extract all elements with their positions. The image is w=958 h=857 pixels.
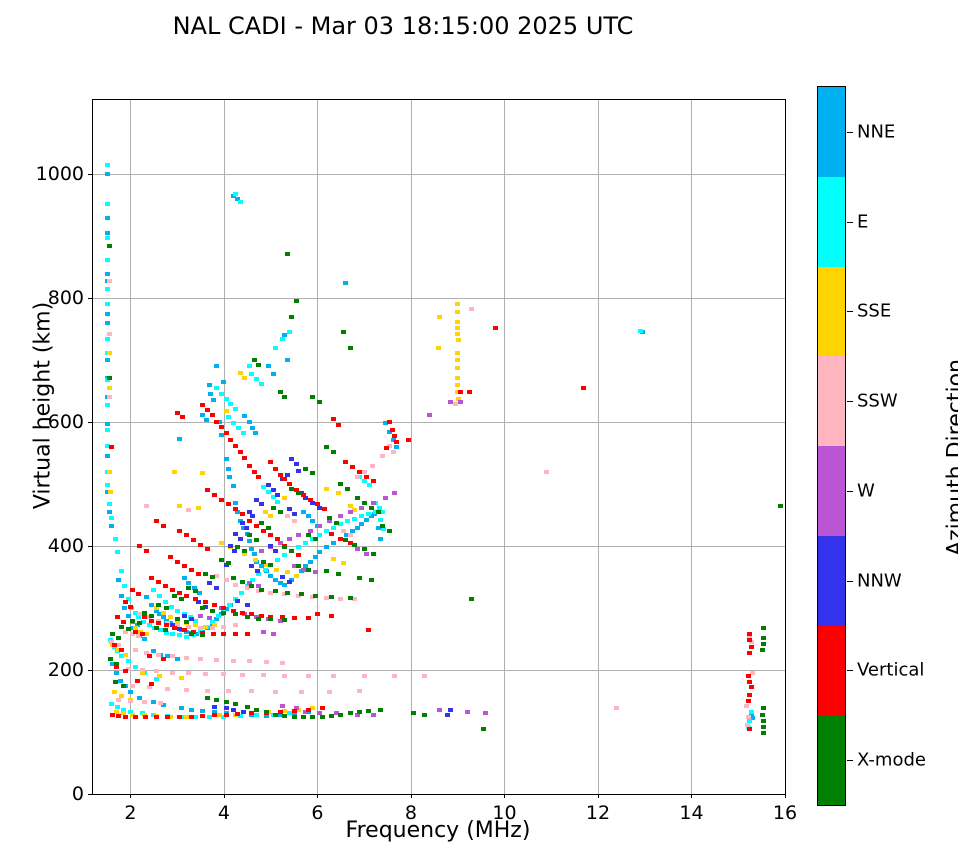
data-point-vertical bbox=[320, 706, 325, 710]
data-point-vertical bbox=[198, 543, 203, 547]
data-point-vertical bbox=[273, 467, 278, 471]
data-point-x-mode bbox=[210, 609, 215, 613]
data-point-x-mode bbox=[411, 711, 416, 715]
data-point-nne bbox=[394, 445, 399, 449]
data-point-vertical bbox=[205, 488, 210, 492]
colorbar-band-ssw[interactable] bbox=[818, 356, 845, 446]
data-point-e bbox=[275, 500, 280, 504]
data-point-x-mode bbox=[224, 700, 229, 704]
data-point-vertical bbox=[254, 524, 259, 528]
data-point-x-mode bbox=[184, 620, 189, 624]
data-point-vertical bbox=[175, 411, 180, 415]
x-tick bbox=[130, 794, 131, 798]
data-point-nnw bbox=[273, 549, 278, 553]
data-point-x-mode bbox=[285, 591, 290, 595]
colorbar-tick bbox=[847, 670, 853, 671]
data-point-x-mode bbox=[163, 628, 168, 632]
data-point-x-mode bbox=[320, 715, 325, 719]
data-point-nnw bbox=[182, 614, 187, 618]
data-point-x-mode bbox=[108, 657, 113, 661]
colorbar-band-x-mode[interactable] bbox=[818, 715, 845, 805]
data-point-sse bbox=[203, 625, 208, 629]
data-point-x-mode bbox=[292, 715, 297, 719]
data-point-ssw bbox=[224, 578, 229, 582]
data-point-x-mode bbox=[172, 594, 177, 598]
data-point-sse bbox=[352, 508, 357, 512]
gridline-horizontal bbox=[93, 174, 785, 175]
data-point-vertical bbox=[154, 715, 159, 719]
data-point-x-mode bbox=[369, 506, 374, 510]
data-point-nnw bbox=[212, 705, 217, 709]
data-point-ssw bbox=[392, 674, 397, 678]
data-point-nne bbox=[271, 372, 276, 376]
colorbar-band-e[interactable] bbox=[818, 177, 845, 267]
data-point-sse bbox=[436, 346, 441, 350]
data-point-vertical bbox=[282, 477, 287, 481]
y-tick bbox=[88, 670, 92, 671]
data-point-vertical bbox=[193, 597, 198, 601]
page-title: NAL CADI - Mar 03 18:15:00 2025 UTC bbox=[0, 12, 806, 40]
colorbar-tick bbox=[847, 491, 853, 492]
data-point-x-mode bbox=[329, 714, 334, 718]
data-point-x-mode bbox=[186, 586, 191, 590]
data-point-x-mode bbox=[142, 611, 147, 615]
data-point-sse bbox=[455, 326, 460, 330]
data-point-ssw bbox=[306, 674, 311, 678]
data-point-nnw bbox=[232, 549, 237, 553]
y-tick bbox=[88, 174, 92, 175]
colorbar-band-nne[interactable] bbox=[818, 87, 845, 177]
y-tick-label: 1000 bbox=[36, 163, 84, 185]
data-point-x-mode bbox=[175, 617, 180, 621]
data-point-w bbox=[371, 501, 376, 505]
data-point-vertical bbox=[184, 533, 189, 537]
data-point-ssw bbox=[280, 661, 285, 665]
data-point-vertical bbox=[581, 386, 586, 390]
data-point-x-mode bbox=[761, 636, 766, 640]
gridline-vertical bbox=[598, 100, 599, 794]
data-point-vertical bbox=[240, 512, 245, 516]
data-point-x-mode bbox=[156, 603, 161, 607]
data-point-vertical bbox=[143, 715, 148, 719]
data-point-sse bbox=[107, 386, 112, 390]
data-point-x-mode bbox=[278, 510, 283, 514]
data-point-vertical bbox=[747, 693, 752, 697]
data-point-e bbox=[263, 568, 268, 572]
data-point-w bbox=[371, 713, 376, 717]
data-point-vertical bbox=[301, 493, 306, 497]
data-point-vertical bbox=[140, 632, 145, 636]
data-point-w bbox=[313, 570, 318, 574]
data-point-vertical bbox=[116, 714, 121, 718]
data-point-sse bbox=[123, 653, 128, 657]
data-point-nne bbox=[207, 383, 212, 387]
y-tick bbox=[88, 422, 92, 423]
data-point-w bbox=[458, 400, 463, 404]
ionogram-page: NAL CADI - Mar 03 18:15:00 2025 UTC 2468… bbox=[0, 0, 958, 857]
data-point-nnw bbox=[287, 507, 292, 511]
data-point-vertical bbox=[161, 524, 166, 528]
data-point-e bbox=[303, 541, 308, 545]
data-point-sse bbox=[455, 351, 460, 355]
data-point-vertical bbox=[149, 619, 154, 623]
data-point-x-mode bbox=[219, 558, 224, 562]
data-point-ssw bbox=[107, 332, 112, 336]
gridline-horizontal bbox=[93, 422, 785, 423]
data-point-x-mode bbox=[259, 521, 264, 525]
data-point-e bbox=[109, 702, 114, 706]
data-point-e bbox=[352, 517, 357, 521]
data-point-ssw bbox=[116, 643, 121, 647]
data-point-ssw bbox=[154, 669, 159, 673]
data-point-ssw bbox=[331, 674, 336, 678]
data-point-vertical bbox=[238, 450, 243, 454]
data-point-x-mode bbox=[371, 552, 376, 556]
data-point-x-mode bbox=[306, 533, 311, 537]
data-point-sse bbox=[172, 470, 177, 474]
data-point-nne bbox=[306, 514, 311, 518]
data-point-e bbox=[224, 397, 229, 401]
data-point-sse bbox=[196, 506, 201, 510]
data-point-vertical bbox=[212, 603, 217, 607]
data-point-vertical bbox=[308, 498, 313, 502]
data-point-vertical bbox=[252, 470, 257, 474]
data-point-e bbox=[241, 431, 246, 435]
plot-area bbox=[93, 100, 785, 794]
data-point-nne bbox=[250, 426, 255, 430]
data-point-ssw bbox=[240, 673, 245, 677]
data-point-nne bbox=[324, 545, 329, 549]
data-point-e bbox=[105, 302, 110, 306]
data-point-x-mode bbox=[348, 711, 353, 715]
data-point-e bbox=[169, 605, 174, 609]
data-point-nne bbox=[200, 413, 205, 417]
data-point-x-mode bbox=[256, 617, 261, 621]
data-point-x-mode bbox=[310, 471, 315, 475]
data-point-ssw bbox=[142, 700, 147, 704]
data-point-sse bbox=[455, 383, 460, 387]
data-point-w bbox=[392, 491, 397, 495]
data-point-sse bbox=[455, 332, 460, 336]
data-point-vertical bbox=[123, 669, 128, 673]
data-point-sse bbox=[282, 709, 287, 713]
data-point-vertical bbox=[156, 621, 161, 625]
data-point-e bbox=[296, 545, 301, 549]
data-point-w bbox=[364, 552, 369, 556]
data-point-x-mode bbox=[357, 576, 362, 580]
colorbar-band-nnw[interactable] bbox=[818, 536, 845, 626]
data-point-x-mode bbox=[233, 702, 238, 706]
data-point-nne bbox=[378, 537, 383, 541]
data-point-e bbox=[226, 415, 231, 419]
data-point-ssw bbox=[282, 674, 287, 678]
colorbar-tick bbox=[847, 132, 853, 133]
data-point-x-mode bbox=[121, 684, 126, 688]
data-point-vertical bbox=[196, 572, 201, 576]
data-point-e bbox=[254, 713, 259, 717]
data-point-x-mode bbox=[245, 705, 250, 709]
data-point-ssw bbox=[370, 464, 375, 468]
data-point-vertical bbox=[211, 632, 216, 636]
data-point-ssw bbox=[214, 658, 219, 662]
data-point-x-mode bbox=[268, 563, 273, 567]
data-point-ssw bbox=[203, 672, 208, 676]
data-point-vertical bbox=[189, 568, 194, 572]
data-point-x-mode bbox=[271, 506, 276, 510]
colorbar-band-sse[interactable] bbox=[818, 267, 845, 357]
data-point-vertical bbox=[189, 715, 194, 719]
data-point-nnw bbox=[235, 599, 240, 603]
data-point-x-mode bbox=[266, 526, 271, 530]
y-tick-label: 400 bbox=[48, 535, 84, 557]
data-point-x-mode bbox=[324, 445, 329, 449]
data-point-nne bbox=[105, 272, 110, 276]
data-point-nne bbox=[179, 706, 184, 710]
data-point-x-mode bbox=[289, 487, 294, 491]
data-point-x-mode bbox=[778, 504, 783, 508]
data-point-nne bbox=[231, 484, 236, 488]
data-point-nne bbox=[105, 312, 110, 316]
gridline-horizontal bbox=[93, 546, 785, 547]
data-point-sse bbox=[324, 487, 329, 491]
y-tick bbox=[88, 794, 92, 795]
data-point-x-mode bbox=[273, 713, 278, 717]
data-point-e bbox=[122, 584, 127, 588]
data-point-w bbox=[448, 400, 453, 404]
data-point-sse bbox=[200, 471, 205, 475]
data-point-ssw bbox=[140, 668, 145, 672]
data-point-x-mode bbox=[189, 632, 194, 636]
data-point-sse bbox=[107, 351, 112, 355]
data-point-nne bbox=[266, 364, 271, 368]
colorbar-label-w: W bbox=[857, 480, 875, 501]
data-point-nnw bbox=[294, 462, 299, 466]
data-point-e bbox=[367, 483, 372, 487]
data-point-vertical bbox=[149, 682, 154, 686]
data-point-vertical bbox=[458, 390, 463, 394]
data-point-sse bbox=[144, 632, 149, 636]
data-point-x-mode bbox=[254, 708, 259, 712]
data-point-nne bbox=[105, 454, 110, 458]
data-point-vertical bbox=[163, 584, 168, 588]
data-point-e bbox=[345, 519, 350, 523]
data-point-x-mode bbox=[343, 538, 348, 542]
data-point-w bbox=[317, 524, 322, 528]
data-point-vertical bbox=[154, 519, 159, 523]
data-point-nnw bbox=[271, 488, 276, 492]
data-point-x-mode bbox=[252, 358, 257, 362]
data-point-e bbox=[239, 591, 244, 595]
data-point-w bbox=[465, 710, 470, 714]
data-point-w bbox=[338, 514, 343, 518]
data-point-sse bbox=[177, 504, 182, 508]
gridline-vertical bbox=[691, 100, 692, 794]
data-point-vertical bbox=[245, 632, 250, 636]
data-point-x-mode bbox=[273, 589, 278, 593]
data-point-e bbox=[109, 516, 114, 520]
data-point-nne bbox=[142, 637, 147, 641]
data-point-vertical bbox=[221, 632, 226, 636]
data-point-vertical bbox=[329, 614, 334, 618]
data-point-vertical bbox=[177, 715, 182, 719]
data-point-e bbox=[147, 623, 152, 627]
data-point-vertical bbox=[387, 420, 392, 424]
data-point-x-mode bbox=[233, 612, 238, 616]
data-point-nnw bbox=[214, 586, 219, 590]
data-point-ssw bbox=[744, 704, 749, 708]
data-point-sse bbox=[274, 568, 279, 572]
data-point-w bbox=[261, 630, 266, 634]
data-point-ssw bbox=[226, 689, 231, 693]
data-point-vertical bbox=[366, 628, 371, 632]
data-point-x-mode bbox=[282, 395, 287, 399]
data-point-vertical bbox=[329, 532, 334, 536]
data-point-nne bbox=[227, 475, 232, 479]
data-point-ssw bbox=[210, 626, 215, 630]
data-point-vertical bbox=[177, 529, 182, 533]
data-point-vertical bbox=[112, 643, 117, 647]
data-point-vertical bbox=[306, 616, 311, 620]
gridline-horizontal bbox=[93, 298, 785, 299]
data-point-x-mode bbox=[137, 621, 142, 625]
data-point-w bbox=[271, 632, 276, 636]
data-point-ssw bbox=[107, 395, 112, 399]
data-point-x-mode bbox=[126, 627, 131, 631]
data-point-e bbox=[236, 426, 241, 430]
data-point-vertical bbox=[747, 638, 752, 642]
data-point-e bbox=[105, 287, 110, 291]
colorbar-tick bbox=[847, 581, 853, 582]
data-point-vertical bbox=[343, 460, 348, 464]
data-point-ssw bbox=[299, 690, 304, 694]
data-point-e bbox=[214, 386, 219, 390]
data-point-ssw bbox=[362, 674, 367, 678]
data-point-vertical bbox=[170, 588, 175, 592]
data-point-vertical bbox=[233, 507, 238, 511]
data-point-vertical bbox=[128, 605, 133, 609]
data-point-vertical bbox=[205, 408, 210, 412]
data-point-vertical bbox=[390, 428, 395, 432]
data-point-w bbox=[483, 711, 488, 715]
data-point-vertical bbox=[136, 592, 141, 596]
data-point-e bbox=[119, 569, 124, 573]
colorbar-band-w[interactable] bbox=[818, 446, 845, 536]
data-point-nne bbox=[114, 671, 119, 675]
data-point-e bbox=[233, 407, 238, 411]
data-point-x-mode bbox=[469, 597, 474, 601]
data-point-e bbox=[105, 483, 110, 487]
data-point-ssw bbox=[348, 533, 353, 537]
data-point-x-mode bbox=[369, 578, 374, 582]
data-point-nne bbox=[214, 364, 219, 368]
data-point-x-mode bbox=[154, 626, 159, 630]
data-point-e bbox=[115, 705, 120, 709]
data-point-ssw bbox=[391, 450, 396, 454]
data-point-ssw bbox=[746, 715, 751, 719]
x-axis-label: Frequency (MHz) bbox=[92, 818, 784, 843]
data-point-vertical bbox=[287, 482, 292, 486]
data-point-e bbox=[638, 329, 643, 333]
data-point-x-mode bbox=[341, 330, 346, 334]
data-point-w bbox=[427, 413, 432, 417]
data-point-vertical bbox=[205, 547, 210, 551]
data-point-x-mode bbox=[193, 589, 198, 593]
y-tick-label: 200 bbox=[48, 659, 84, 681]
data-point-x-mode bbox=[378, 708, 383, 712]
data-point-x-mode bbox=[285, 252, 290, 256]
data-point-x-mode bbox=[327, 516, 332, 520]
data-point-e bbox=[249, 372, 254, 376]
data-point-e bbox=[227, 603, 232, 607]
data-point-x-mode bbox=[240, 580, 245, 584]
data-point-x-mode bbox=[313, 537, 318, 541]
data-point-vertical bbox=[168, 555, 173, 559]
data-point-e bbox=[105, 428, 110, 432]
data-point-vertical bbox=[331, 417, 336, 421]
data-point-nne bbox=[186, 581, 191, 585]
colorbar-label-ssw: SSW bbox=[857, 391, 898, 412]
data-point-ssw bbox=[186, 671, 191, 675]
data-point-nne bbox=[224, 457, 229, 461]
data-point-x-mode bbox=[296, 491, 301, 495]
data-point-ssw bbox=[544, 470, 549, 474]
data-point-vertical bbox=[219, 498, 224, 502]
data-point-x-mode bbox=[200, 633, 205, 637]
data-point-vertical bbox=[249, 612, 254, 616]
data-point-x-mode bbox=[301, 715, 306, 719]
data-point-vertical bbox=[364, 475, 369, 479]
data-point-vertical bbox=[242, 456, 247, 460]
data-point-nne bbox=[126, 614, 131, 618]
data-point-ssw bbox=[233, 623, 238, 627]
data-point-vertical bbox=[182, 628, 187, 632]
data-point-e bbox=[193, 619, 198, 623]
data-point-nne bbox=[107, 510, 112, 514]
colorbar-tick bbox=[847, 222, 853, 223]
data-point-ssw bbox=[147, 685, 152, 689]
data-point-ssw bbox=[186, 625, 191, 629]
data-point-sse bbox=[253, 558, 258, 562]
data-point-e bbox=[259, 382, 264, 386]
colorbar-band-vertical[interactable] bbox=[818, 626, 845, 716]
data-point-ssw bbox=[469, 307, 474, 311]
data-point-x-mode bbox=[761, 706, 766, 710]
data-point-ssw bbox=[355, 475, 360, 479]
data-point-sse bbox=[455, 358, 460, 362]
colorbar[interactable]: NNEESSESSWWNNWVerticalX-mode bbox=[817, 86, 846, 806]
data-point-nnw bbox=[189, 617, 194, 621]
data-point-x-mode bbox=[226, 561, 231, 565]
data-point-e bbox=[163, 600, 168, 604]
data-point-nne bbox=[331, 541, 336, 545]
data-point-vertical bbox=[135, 679, 140, 683]
data-point-ssw bbox=[170, 654, 175, 658]
data-point-x-mode bbox=[761, 719, 766, 723]
data-point-x-mode bbox=[303, 467, 308, 471]
data-point-ssw bbox=[357, 689, 362, 693]
data-point-vertical bbox=[130, 588, 135, 592]
data-point-x-mode bbox=[317, 400, 322, 404]
data-point-sse bbox=[108, 490, 113, 494]
data-point-vertical bbox=[191, 538, 196, 542]
data-point-nne bbox=[343, 281, 348, 285]
data-point-ssw bbox=[184, 688, 189, 692]
data-point-vertical bbox=[384, 446, 389, 450]
y-axis-label: Virtual height (km) bbox=[31, 276, 56, 536]
data-point-ssw bbox=[133, 648, 138, 652]
data-point-vertical bbox=[247, 464, 252, 468]
data-point-e bbox=[317, 533, 322, 537]
